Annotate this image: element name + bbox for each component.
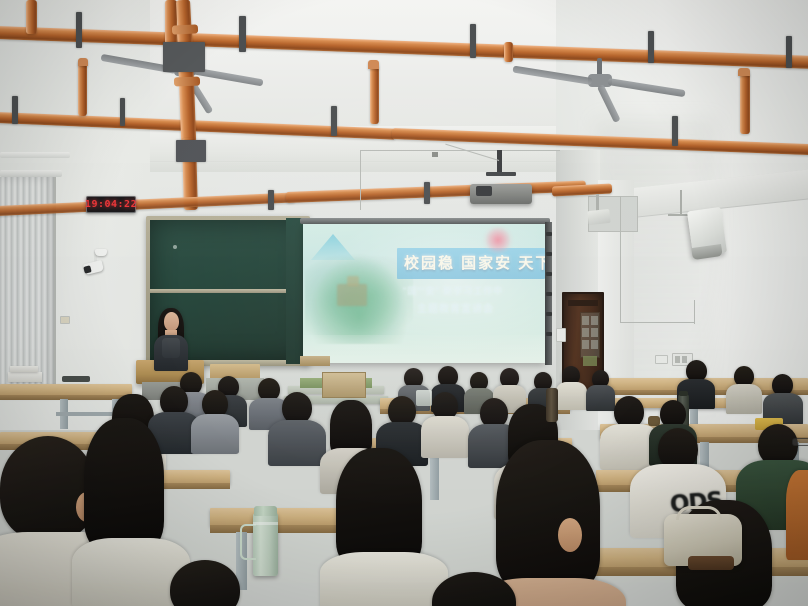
stacked-papers: [8, 372, 42, 382]
pipe-coupling: [174, 77, 200, 87]
pipe-bracket: [268, 190, 274, 210]
outlet-socket: [682, 356, 687, 363]
pipe-stub-right: [504, 42, 513, 62]
student-body-orange: [786, 470, 808, 560]
pipe-bracket: [470, 24, 476, 58]
pipe-bracket: [786, 36, 792, 68]
slide-building-top: [347, 276, 359, 286]
projection-screen[interactable]: 校园稳 国家安 天下定 "国""安" 新学习工作中 主题教育宣讲会: [303, 224, 545, 363]
student-body: [268, 420, 326, 466]
speaker-bracket-vertical: [680, 190, 682, 216]
student-body: [556, 382, 587, 410]
screen-edge-tab: [546, 252, 552, 256]
presenter-head: [164, 312, 179, 331]
pipe-anchor-plate: [163, 42, 205, 72]
wall-panel-left[interactable]: [556, 328, 566, 342]
storage-box: [322, 372, 366, 398]
thermos-highlight: [253, 522, 278, 525]
slide-building: [337, 284, 367, 306]
bottle-cap: [679, 391, 688, 396]
door-pane: [591, 316, 598, 325]
pipe-anchor-plate: [176, 140, 206, 162]
pipe-bracket: [12, 96, 18, 124]
door-sign: [583, 356, 597, 366]
clock-time: 19:04:22: [85, 199, 137, 210]
pipe-bracket: [120, 98, 125, 126]
student-head: [0, 436, 96, 540]
pipe-riser-center: [165, 0, 177, 46]
wall-switch-left[interactable]: [60, 316, 70, 324]
student-body: [191, 414, 239, 454]
conduit-line: [620, 196, 621, 322]
screen-edge-tab: [546, 332, 552, 336]
presenter-shirt-front: [162, 338, 180, 358]
door-pane: [591, 340, 598, 349]
slide-subtitle-line2: 主题教育宣讲会: [417, 300, 494, 315]
bag-leather-trim: [688, 556, 734, 570]
blinds-rail: [0, 170, 62, 177]
door-pane: [582, 328, 589, 337]
pipe-bracket: [424, 182, 430, 204]
led-wall-clock: 19:04:22: [86, 196, 136, 213]
student-hair-long: [336, 448, 422, 568]
student-body: [726, 384, 762, 414]
paper-cup: [416, 390, 432, 406]
thermos-strap: [240, 524, 256, 560]
student-ear: [558, 518, 582, 552]
desk-item-dark: [62, 376, 90, 382]
student-hair-long: [496, 440, 600, 590]
chalk-mark: [173, 245, 177, 249]
curtain-track: [0, 152, 70, 158]
camera-mount: [95, 249, 107, 256]
pipe-cap: [78, 58, 88, 66]
dark-bottle-2: [546, 388, 558, 422]
screen-edge-tab: [546, 292, 552, 296]
door-pane: [582, 316, 589, 325]
pipe-bracket: [648, 31, 654, 63]
door-pane: [582, 340, 589, 349]
stacked-papers: [10, 366, 38, 372]
slide-bottom-band: [303, 335, 545, 363]
pipe-riser: [740, 72, 750, 134]
bag-handle: [676, 506, 722, 520]
door-pane: [591, 328, 598, 337]
slide-title-text: 校园稳 国家安 天下定: [404, 252, 545, 273]
pipe-riser-left: [26, 0, 37, 34]
light-switch-plate[interactable]: [655, 355, 668, 364]
screen-edge-tab: [546, 232, 552, 236]
student-head: [170, 560, 240, 606]
student-glasses: [792, 438, 808, 446]
pipe-cap: [738, 68, 750, 76]
side-shelf: [300, 356, 330, 366]
slide-subtitle-line1: "国""安" 新学习工作中: [403, 284, 503, 297]
conduit-line: [694, 300, 695, 324]
conduit-line: [620, 322, 694, 323]
pipe-bracket: [331, 106, 337, 136]
conduit-line: [360, 150, 560, 151]
lecture-hall-photo: 校园稳 国家安 天下定 "国""安" 新学习工作中 主题教育宣讲会 19:04:…: [0, 0, 808, 606]
door-top-trim: [568, 300, 598, 306]
screen-edge-tab: [546, 312, 552, 316]
projector-lens: [476, 186, 492, 196]
student-body: [586, 385, 615, 411]
student-hair-long: [84, 418, 164, 550]
student-body: [421, 416, 469, 458]
pipe-descender-low: [179, 80, 196, 142]
pipe-bracket: [239, 16, 246, 52]
wall-speaker-secondary: [587, 209, 610, 225]
chalkboard-divider-rail: [150, 289, 306, 293]
pipe-riser: [78, 60, 87, 116]
conduit-line: [360, 150, 361, 210]
outlet-socket: [675, 356, 680, 363]
student-body: [320, 552, 448, 606]
screen-edge-tab: [546, 272, 552, 276]
pipe-bracket: [76, 12, 82, 48]
pipe-cap: [368, 60, 379, 69]
pipe-riser: [370, 64, 379, 124]
projector-mount-plate: [486, 172, 516, 176]
pipe-coupling: [172, 24, 198, 34]
pipe-bracket: [672, 116, 678, 146]
slide-floral-motif: [481, 226, 515, 254]
cable-anchor: [432, 152, 438, 157]
thermos-cap: [254, 506, 277, 516]
desk-leg: [430, 456, 439, 500]
